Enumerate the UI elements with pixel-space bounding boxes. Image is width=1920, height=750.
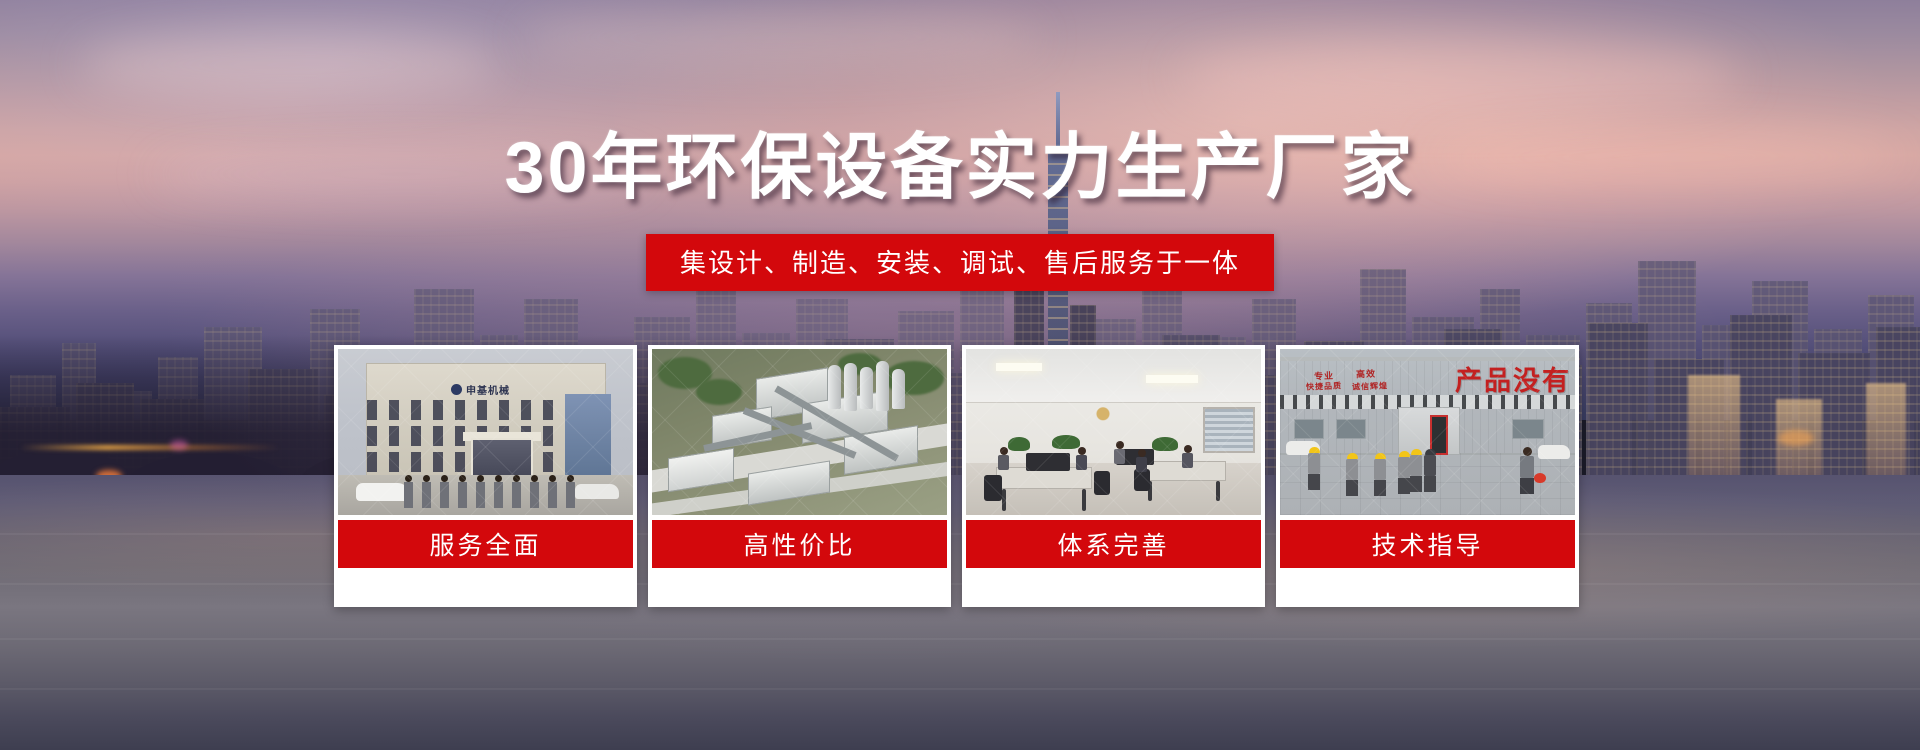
company-name-text: 申基机械 <box>466 382 510 397</box>
factory-banner-text: 产品没有 <box>1455 359 1571 398</box>
page-title: 30年环保设备实力生产厂家 <box>0 108 1920 213</box>
card-photo-office-interior <box>966 349 1261 515</box>
feature-card[interactable]: 高性价比 <box>648 345 951 607</box>
building-sign: 申基机械 <box>451 382 571 396</box>
hero-banner: 30年环保设备实力生产厂家 集设计、制造、安装、调试、售后服务于一体 申基机械 <box>0 0 1920 750</box>
feature-card-row: 申基机械 <box>334 345 1586 607</box>
feature-card[interactable]: 体系完善 <box>962 345 1265 607</box>
wall-emblem <box>1086 405 1120 427</box>
factory-slogan-text: 快捷品质 <box>1306 380 1342 392</box>
card-label: 技术指导 <box>1280 520 1575 568</box>
card-label: 体系完善 <box>966 520 1261 568</box>
card-photo-headquarters: 申基机械 <box>338 349 633 515</box>
card-photo-industrial-plant <box>652 349 947 515</box>
parked-car <box>356 483 408 501</box>
parked-car <box>1538 445 1570 459</box>
parked-car <box>575 484 619 499</box>
card-label: 服务全面 <box>338 520 633 568</box>
feature-card[interactable]: 产品没有 专业 高效 快捷品质 诚信辉煌 <box>1276 345 1579 607</box>
factory-slogan-text: 诚信辉煌 <box>1352 380 1388 392</box>
company-logo-mark <box>451 384 462 395</box>
card-photo-factory-yard: 产品没有 专业 高效 快捷品质 诚信辉煌 <box>1280 349 1575 515</box>
factory-slogan-text: 高效 <box>1356 367 1376 381</box>
red-safety-helmet <box>1534 473 1546 483</box>
card-label: 高性价比 <box>652 520 947 568</box>
feature-card[interactable]: 申基机械 <box>334 345 637 607</box>
subtitle-banner: 集设计、制造、安装、调试、售后服务于一体 <box>646 234 1274 291</box>
